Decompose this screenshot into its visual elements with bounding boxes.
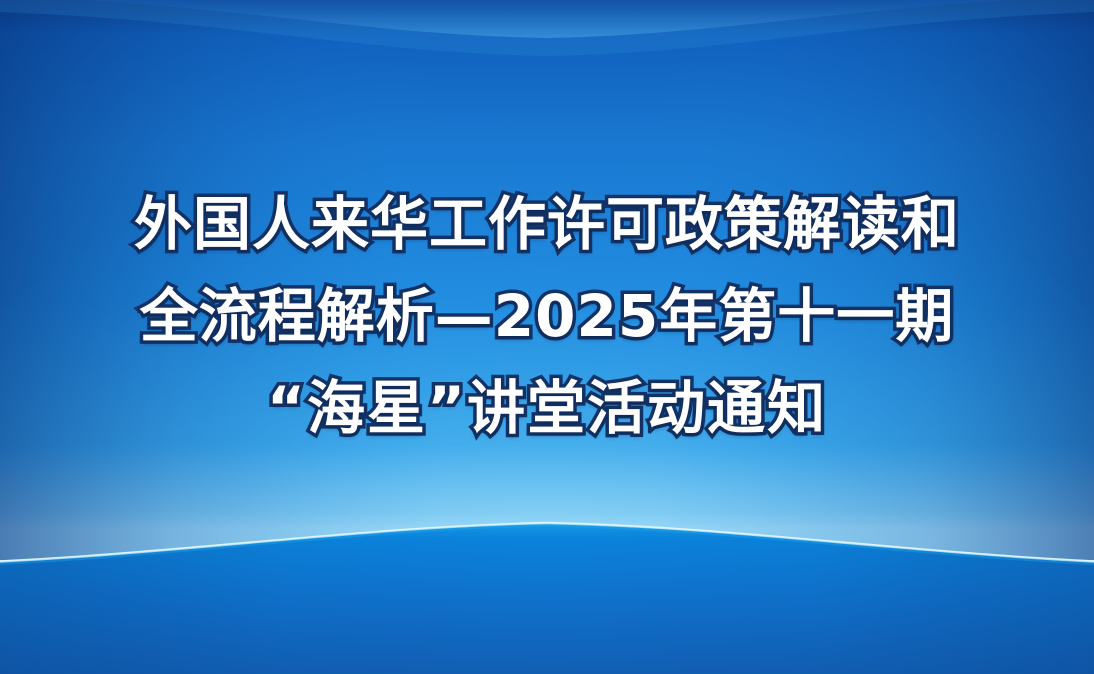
poster-title-block: 外国人来华工作许可政策解读和 全流程解析—2025年第十一期 “海星”讲堂活动通… <box>0 178 1094 454</box>
horizon-line <box>0 523 1094 566</box>
poster-title-line-3: “海星”讲堂活动通知 <box>0 362 1094 454</box>
poster-title-line-1: 外国人来华工作许可政策解读和 <box>0 178 1094 270</box>
top-dome-shape <box>0 0 1094 38</box>
horizon-ground-shape <box>0 523 1094 674</box>
poster-title-line-2: 全流程解析—2025年第十一期 <box>0 270 1094 362</box>
top-dome-glow <box>0 0 1094 38</box>
poster-canvas: 外国人来华工作许可政策解读和 全流程解析—2025年第十一期 “海星”讲堂活动通… <box>0 0 1094 674</box>
